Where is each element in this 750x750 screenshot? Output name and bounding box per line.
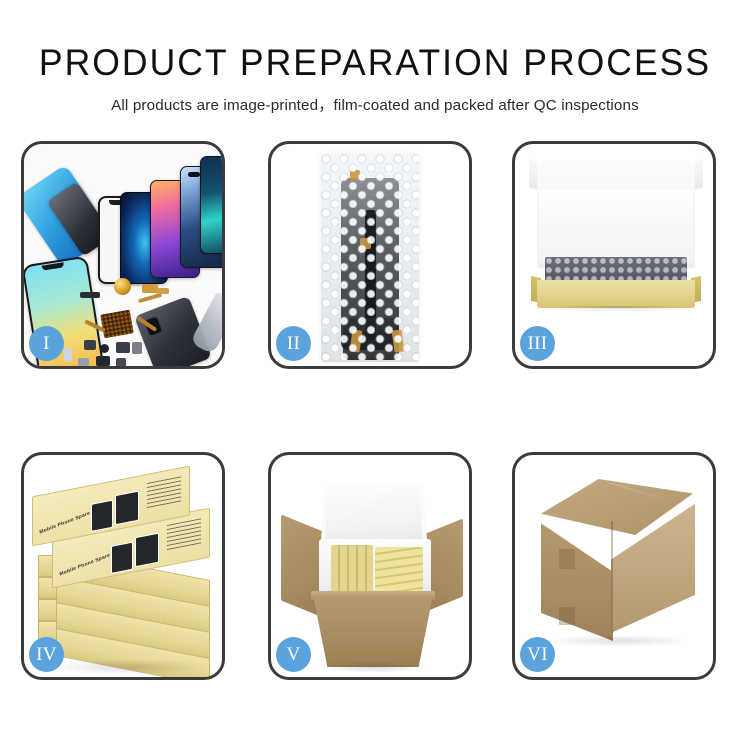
drop-shadow: [48, 659, 208, 675]
panel-step-3[interactable]: III: [512, 141, 716, 369]
panel-badge-5: V: [276, 637, 311, 672]
small-component-icon: [78, 358, 89, 366]
bubble-wrap-package: [321, 154, 419, 362]
box-label-chip-icon: [135, 533, 159, 568]
carton-tape-patch: [559, 607, 575, 625]
drop-shadow: [541, 306, 693, 312]
page-title: PRODUCT PREPARATION PROCESS: [15, 0, 735, 84]
panel-step-4[interactable]: Mobile Phone Spare Parts Mobile Phone Sp…: [21, 452, 225, 680]
page-header: PRODUCT PREPARATION PROCESS All products…: [0, 0, 750, 115]
yellow-boxes-right-group: [375, 547, 423, 593]
panel-step-5[interactable]: V: [268, 452, 472, 680]
box-label-spec-lines: [147, 476, 181, 509]
small-component-icon: [156, 288, 169, 294]
panel-badge-6: VI: [520, 637, 555, 672]
small-component-icon: [84, 340, 96, 350]
carton-front-panel: [313, 595, 433, 667]
page-subtitle: All products are image-printed，film-coat…: [0, 84, 750, 115]
panel-badge-1: I: [29, 326, 64, 361]
sim-tray-icon: [64, 348, 72, 362]
panel-badge-2: II: [276, 326, 311, 361]
box-label-spec-lines: [167, 518, 201, 551]
drop-shadow: [549, 635, 689, 647]
small-component-icon: [116, 342, 130, 353]
carton-left-panel: [541, 513, 613, 641]
carton-vertical-crease: [611, 521, 613, 633]
panel-badge-3: III: [520, 326, 555, 361]
panel-step-1[interactable]: I: [21, 141, 225, 369]
earpiece-mesh-icon: [80, 292, 100, 298]
panel-step-2[interactable]: II: [268, 141, 472, 369]
panel-step-6[interactable]: VI: [512, 452, 716, 680]
lcd-screen-teal: [200, 156, 222, 254]
box-label-chip-icon: [111, 542, 133, 574]
panel-badge-4: IV: [29, 637, 64, 672]
screw-tray-icon: [100, 310, 134, 339]
camera-lens-icon: [100, 344, 109, 353]
small-component-icon: [132, 342, 142, 354]
drop-shadow: [317, 661, 429, 673]
small-component-icon: [96, 356, 110, 366]
bubble-wrap-texture: [321, 154, 419, 362]
yellow-boxes-left-group: [331, 545, 373, 593]
yellow-box-front-panel: [537, 280, 695, 308]
foam-liner-white: [539, 190, 693, 262]
carton-tape-patch: [559, 549, 575, 569]
box-label-chip-icon: [91, 500, 113, 532]
speaker-module-icon: [114, 278, 131, 295]
box-label-chip-icon: [115, 491, 139, 526]
process-panel-grid: I II: [21, 141, 721, 681]
small-component-icon: [116, 358, 126, 366]
styrofoam-lid: [321, 484, 428, 547]
